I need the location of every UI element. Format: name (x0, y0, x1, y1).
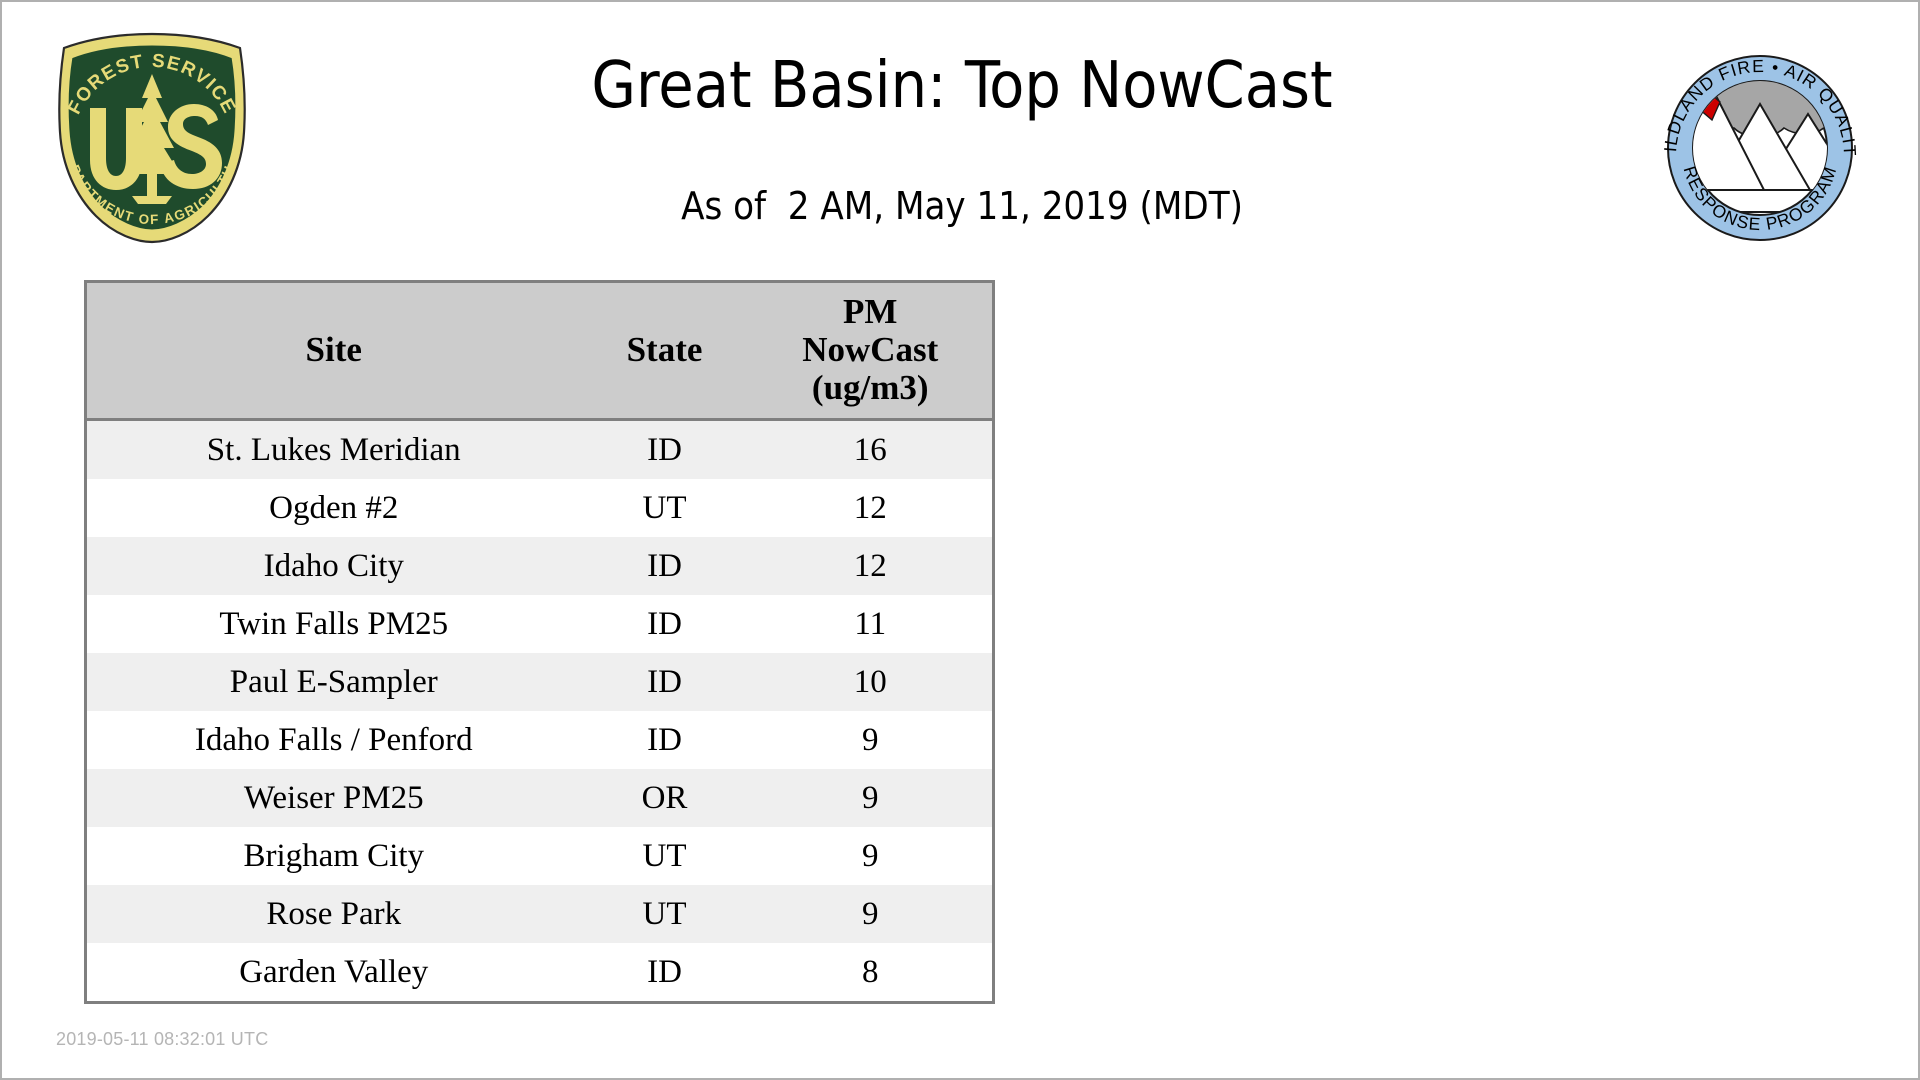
generated-timestamp: 2019-05-11 08:32:01 UTC (56, 1029, 268, 1050)
page-title: Great Basin: Top NowCast (2, 54, 1920, 118)
cell-pm-nowcast-value: 12 (749, 537, 994, 595)
table-row: Rose ParkUT9 (86, 885, 994, 943)
cell-pm-nowcast-value: 11 (749, 595, 994, 653)
page-subtitle: As of 2 AM, May 11, 2019 (MDT) (2, 187, 1920, 225)
cell-site: Garden Valley (86, 943, 581, 1003)
cell-state: UT (581, 885, 749, 943)
cell-pm-nowcast-value: 9 (749, 827, 994, 885)
table-row: Ogden #2UT12 (86, 479, 994, 537)
table-row: Idaho CityID12 (86, 537, 994, 595)
cell-site: Idaho Falls / Penford (86, 711, 581, 769)
table-row: Twin Falls PM25ID11 (86, 595, 994, 653)
cell-state: UT (581, 479, 749, 537)
cell-state: ID (581, 943, 749, 1003)
slide-canvas: FOREST SERVICE DEPARTMENT OF AGRICULTURE (0, 0, 1920, 1080)
table-row: Weiser PM25OR9 (86, 769, 994, 827)
table-header: Site State PM NowCast (ug/m3) (86, 282, 994, 420)
column-header-site: Site (86, 282, 581, 420)
cell-site: Rose Park (86, 885, 581, 943)
table-row: Paul E-SamplerID10 (86, 653, 994, 711)
nowcast-table-container: Site State PM NowCast (ug/m3) St. Lukes … (84, 280, 992, 1004)
table-body: St. Lukes MeridianID16Ogden #2UT12Idaho … (86, 420, 994, 1003)
cell-state: ID (581, 711, 749, 769)
cell-site: Idaho City (86, 537, 581, 595)
cell-site: Paul E-Sampler (86, 653, 581, 711)
top-nowcast-table: Site State PM NowCast (ug/m3) St. Lukes … (84, 280, 995, 1004)
cell-pm-nowcast-value: 8 (749, 943, 994, 1003)
column-header-state: State (581, 282, 749, 420)
table-row: St. Lukes MeridianID16 (86, 420, 994, 480)
cell-site: Ogden #2 (86, 479, 581, 537)
table-row: Brigham CityUT9 (86, 827, 994, 885)
cell-site: Brigham City (86, 827, 581, 885)
table-row: Idaho Falls / PenfordID9 (86, 711, 994, 769)
cell-pm-nowcast-value: 16 (749, 420, 994, 480)
table-header-row: Site State PM NowCast (ug/m3) (86, 282, 994, 420)
column-header-pm-nowcast-line1: PM (753, 293, 989, 331)
cell-pm-nowcast-value: 9 (749, 769, 994, 827)
table-row: Garden ValleyID8 (86, 943, 994, 1003)
column-header-pm-nowcast-line2: NowCast (753, 331, 989, 369)
cell-state: UT (581, 827, 749, 885)
column-header-pm-nowcast-line3: (ug/m3) (753, 369, 989, 407)
cell-state: OR (581, 769, 749, 827)
cell-site: St. Lukes Meridian (86, 420, 581, 480)
cell-pm-nowcast-value: 9 (749, 711, 994, 769)
cell-state: ID (581, 420, 749, 480)
cell-pm-nowcast-value: 12 (749, 479, 994, 537)
cell-state: ID (581, 537, 749, 595)
cell-site: Twin Falls PM25 (86, 595, 581, 653)
cell-state: ID (581, 595, 749, 653)
column-header-pm-nowcast: PM NowCast (ug/m3) (749, 282, 994, 420)
cell-pm-nowcast-value: 9 (749, 885, 994, 943)
cell-site: Weiser PM25 (86, 769, 581, 827)
cell-state: ID (581, 653, 749, 711)
cell-pm-nowcast-value: 10 (749, 653, 994, 711)
